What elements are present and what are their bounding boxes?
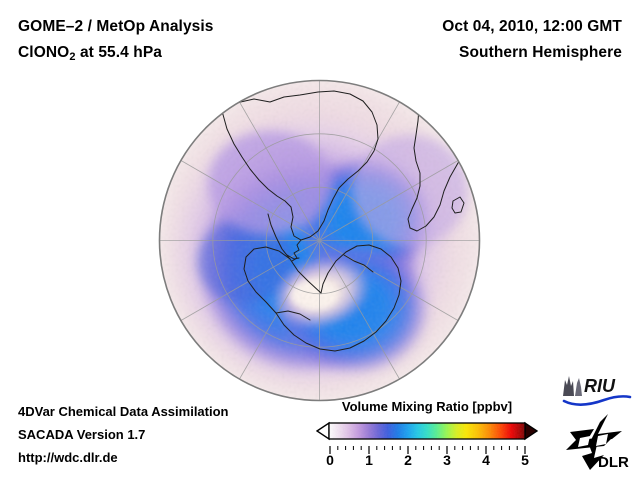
colorbar-tick-label-4: 4 [482,451,490,469]
colorbar-tick-labels: 0 1 2 3 4 5 [316,451,538,469]
footer-left-block: 4DVar Chemical Data Assimilation SACADA … [18,400,229,469]
method-label: 4DVar Chemical Data Assimilation [18,400,229,423]
colorbar-extend-min-arrow [317,423,329,439]
globe-data-layer [160,81,480,401]
colorbar-svg [316,420,538,442]
colorbar-extend-max-arrow [525,423,537,439]
dlr-logo: DLR [564,412,632,474]
riu-logo: RIU [560,374,632,408]
hemisphere-label: Southern Hemisphere [442,40,622,66]
instrument-title: GOME–2 / MetOp Analysis [18,14,214,40]
dlr-logo-svg: DLR [564,412,632,474]
riu-wordmark: RIU [584,376,616,396]
riu-wave-icon [564,396,630,404]
colorbar-tick-label-1: 1 [365,451,373,469]
colorbar-ticks [316,442,538,451]
species-name: ClONO [18,44,69,61]
colorbar-title: Volume Mixing Ratio [ppbv] [316,398,538,415]
riu-tower-icon [563,376,582,396]
pressure-level: at 55.4 hPa [76,44,163,61]
header-right-block: Oct 04, 2010, 12:00 GMT Southern Hemisph… [442,14,622,66]
colorbar-tick-label-3: 3 [443,451,451,469]
colorbar-tick-label-5: 5 [521,451,529,469]
dlr-wordmark: DLR [598,454,629,471]
colorbar-tick-label-2: 2 [404,451,412,469]
coastline-australia [444,345,476,371]
colorbar-tick-label-0: 0 [326,451,334,469]
header-left-block: GOME–2 / MetOp Analysis ClONO2 at 55.4 h… [18,14,214,70]
globe-map [158,79,481,402]
datetime-label: Oct 04, 2010, 12:00 GMT [442,14,622,40]
orthographic-projection-svg [158,79,481,402]
colorbar-bar-row [316,420,538,442]
colorbar-dither-texture [329,423,525,439]
version-label: SACADA Version 1.7 [18,423,229,446]
url-label[interactable]: http://wdc.dlr.de [18,446,229,469]
species-level-title: ClONO2 at 55.4 hPa [18,40,214,70]
riu-logo-svg: RIU [560,374,632,408]
colorbar: Volume Mixing Ratio [ppbv] [316,398,538,469]
